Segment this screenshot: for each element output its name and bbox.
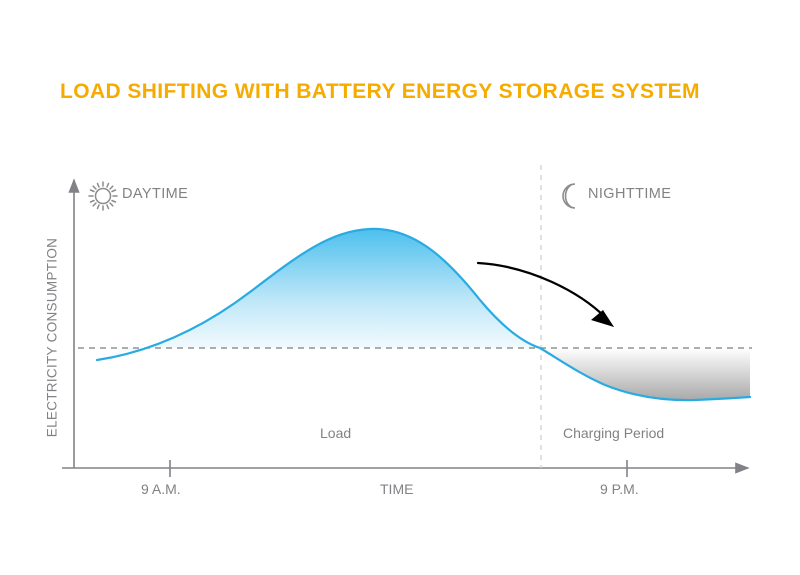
shift-arrow xyxy=(478,263,606,318)
shift-arrow-head-b xyxy=(591,310,614,327)
charging-area-fill xyxy=(540,348,750,400)
load-area-fill xyxy=(97,229,540,360)
x-tick-label-morning: 9 A.M. xyxy=(141,481,181,497)
moon-icon xyxy=(563,184,575,208)
x-tick-label-evening: 9 P.M. xyxy=(600,481,639,497)
x-axis-label: TIME xyxy=(380,481,413,497)
chart-canvas: LOAD SHIFTING WITH BATTERY ENERGY STORAG… xyxy=(0,0,800,575)
daytime-label: DAYTIME xyxy=(122,186,188,202)
charging-period-label: Charging Period xyxy=(563,425,664,441)
y-axis-label: ELECTRICITY CONSUMPTION xyxy=(45,228,60,448)
sun-icon xyxy=(89,182,117,210)
nighttime-label: NIGHTTIME xyxy=(588,186,671,202)
load-region-label: Load xyxy=(320,425,351,441)
